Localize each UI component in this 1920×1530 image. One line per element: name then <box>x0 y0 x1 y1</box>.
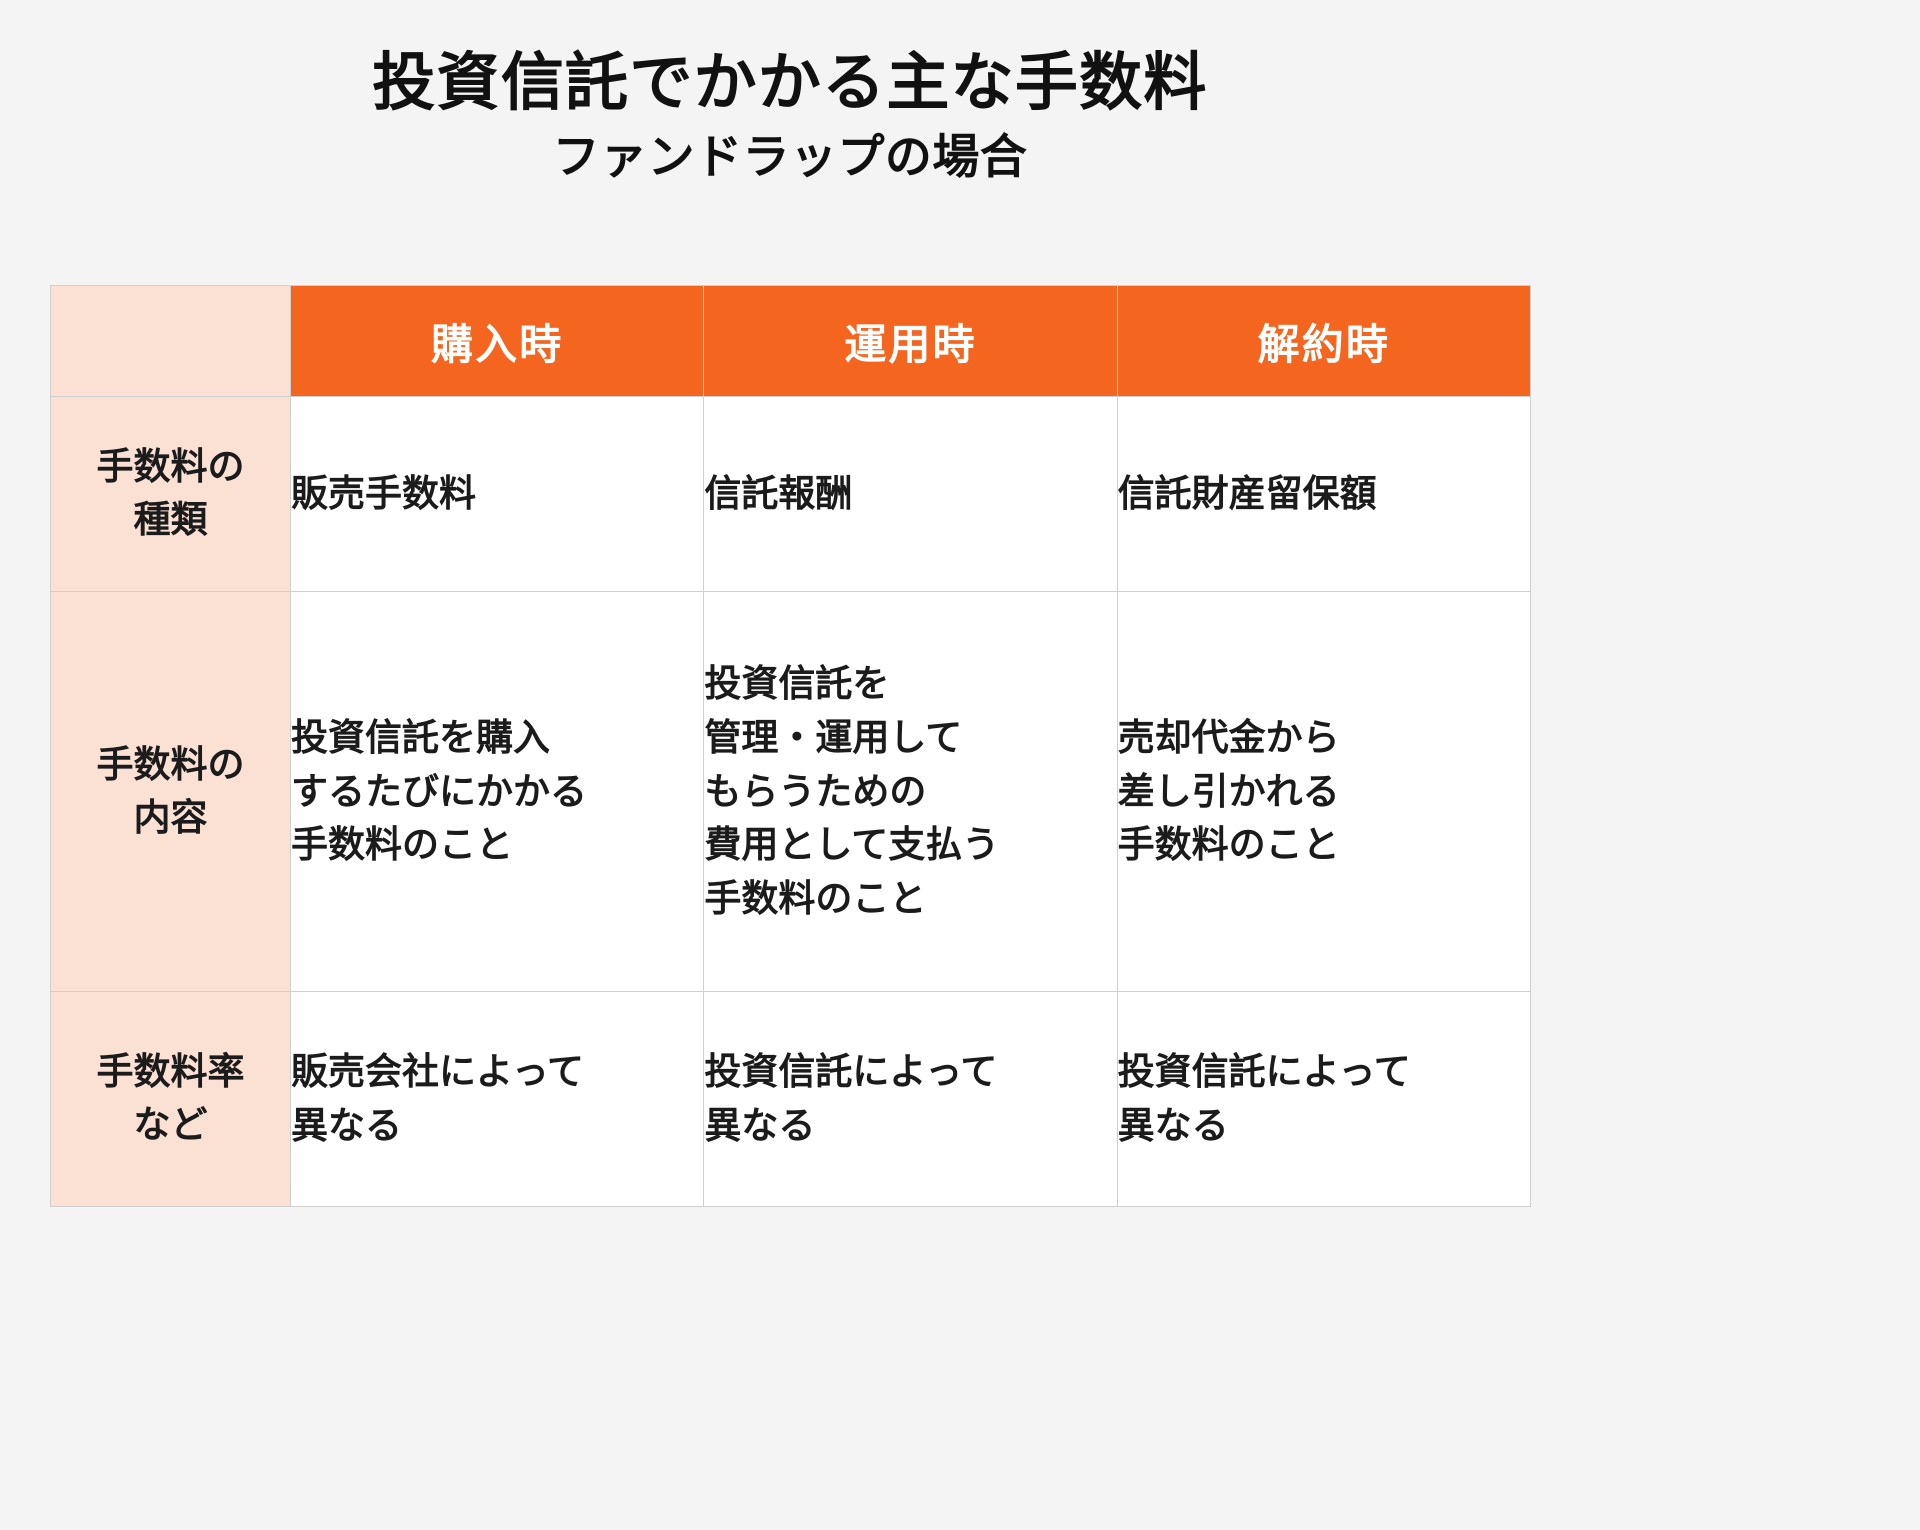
row-label-fee-type: 手数料の 種類 <box>51 397 291 592</box>
header-row: 購入時 運用時 解約時 <box>51 286 1531 397</box>
cell-fee-detail-redemption: 売却代金から 差し引かれる 手数料のこと <box>1117 592 1530 992</box>
row-label-fee-detail: 手数料の 内容 <box>51 592 291 992</box>
cell-fee-type-management: 信託報酬 <box>704 397 1117 592</box>
infographic-page: 投資信託でかかる主な手数料 ファンドラップの場合 購入時 運用時 解約時 手数料… <box>0 0 1920 1530</box>
column-header-redemption: 解約時 <box>1117 286 1530 397</box>
row-label-line: 種類 <box>51 494 290 547</box>
cell-line: 手数料のこと <box>291 818 703 872</box>
cell-line: 信託財産留保額 <box>1118 467 1530 521</box>
cell-fee-type-purchase: 販売手数料 <box>291 397 704 592</box>
cell-fee-rate-management: 投資信託によって 異なる <box>704 992 1117 1207</box>
cell-line: するたびにかかる <box>291 765 703 819</box>
cell-line: 手数料のこと <box>704 872 1116 926</box>
cell-line: 投資信託を購入 <box>291 711 703 765</box>
cell-line: 販売手数料 <box>291 467 703 521</box>
cell-line: 管理・運用して <box>704 711 1116 765</box>
cell-line: 信託報酬 <box>704 467 1116 521</box>
cell-line: 手数料のこと <box>1118 818 1530 872</box>
cell-fee-rate-purchase: 販売会社によって 異なる <box>291 992 704 1207</box>
row-label-line: 手数料の <box>51 441 290 494</box>
cell-line: 異なる <box>291 1099 703 1153</box>
cell-line: 費用として支払う <box>704 818 1116 872</box>
cell-line: 異なる <box>704 1099 1116 1153</box>
table-row: 手数料率 など 販売会社によって 異なる 投資信託によって 異なる 投資信託によ… <box>51 992 1531 1207</box>
cell-fee-rate-redemption: 投資信託によって 異なる <box>1117 992 1530 1207</box>
table-body: 手数料の 種類 販売手数料 信託報酬 信託財産留保額 手数料の 内容 <box>51 397 1531 1207</box>
cell-line: 異なる <box>1118 1099 1530 1153</box>
column-header-purchase: 購入時 <box>291 286 704 397</box>
corner-cell <box>51 286 291 397</box>
row-label-fee-rate: 手数料率 など <box>51 992 291 1207</box>
column-header-management: 運用時 <box>704 286 1117 397</box>
cell-fee-detail-purchase: 投資信託を購入 するたびにかかる 手数料のこと <box>291 592 704 992</box>
title-block: 投資信託でかかる主な手数料 ファンドラップの場合 <box>0 48 1580 184</box>
row-label-line: 内容 <box>51 792 290 845</box>
page-title: 投資信託でかかる主な手数料 <box>0 48 1580 119</box>
cell-line: 投資信託によって <box>704 1045 1116 1099</box>
cell-line: 売却代金から <box>1118 711 1530 765</box>
row-label-line: 手数料率 <box>51 1046 290 1099</box>
row-label-line: 手数料の <box>51 739 290 792</box>
cell-line: もらうための <box>704 765 1116 819</box>
table-row: 手数料の 種類 販売手数料 信託報酬 信託財産留保額 <box>51 397 1531 592</box>
cell-line: 販売会社によって <box>291 1045 703 1099</box>
cell-line: 差し引かれる <box>1118 765 1530 819</box>
fee-comparison-table: 購入時 運用時 解約時 手数料の 種類 販売手数料 信託報酬 信託財産留保額 <box>50 285 1531 1207</box>
cell-fee-detail-management: 投資信託を 管理・運用して もらうための 費用として支払う 手数料のこと <box>704 592 1117 992</box>
cell-line: 投資信託によって <box>1118 1045 1530 1099</box>
row-label-line: など <box>51 1099 290 1152</box>
page-subtitle: ファンドラップの場合 <box>0 129 1580 184</box>
cell-line: 投資信託を <box>704 657 1116 711</box>
cell-fee-type-redemption: 信託財産留保額 <box>1117 397 1530 592</box>
table-row: 手数料の 内容 投資信託を購入 するたびにかかる 手数料のこと 投資信託を 管理… <box>51 592 1531 992</box>
table-header: 購入時 運用時 解約時 <box>51 286 1531 397</box>
